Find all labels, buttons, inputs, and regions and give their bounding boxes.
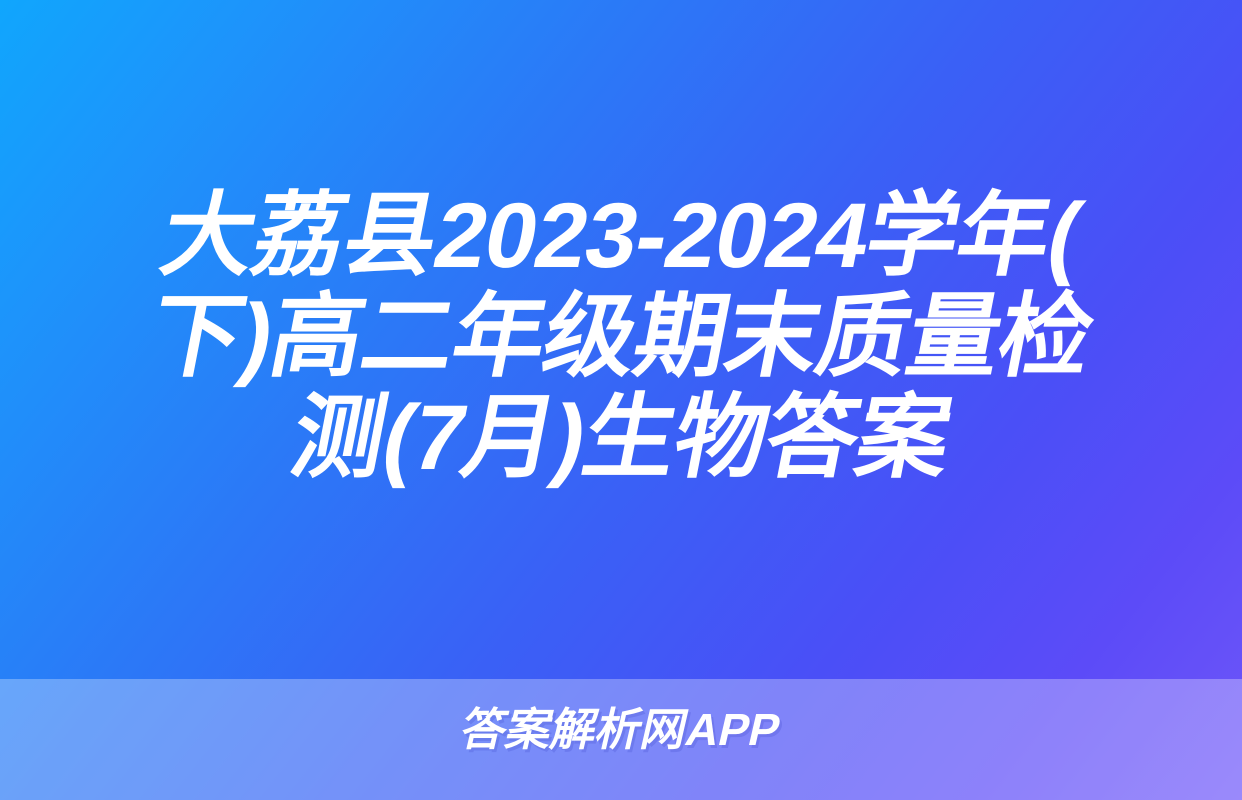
- poster-title: 大荔县2023-2024学年( 下)高二年级期末质量检 测(7月)生物答案: [0, 186, 1242, 489]
- title-line-1: 大荔县2023-2024学年(: [0, 186, 1242, 287]
- watermark-label: 答案解析网APP: [456, 704, 786, 756]
- title-line-2: 下)高二年级期末质量检: [0, 287, 1242, 388]
- watermark: 答案解析网APP: [0, 704, 1242, 756]
- poster-canvas: 大荔县2023-2024学年( 下)高二年级期末质量检 测(7月)生物答案 答案…: [0, 0, 1242, 800]
- title-line-3: 测(7月)生物答案: [0, 388, 1242, 489]
